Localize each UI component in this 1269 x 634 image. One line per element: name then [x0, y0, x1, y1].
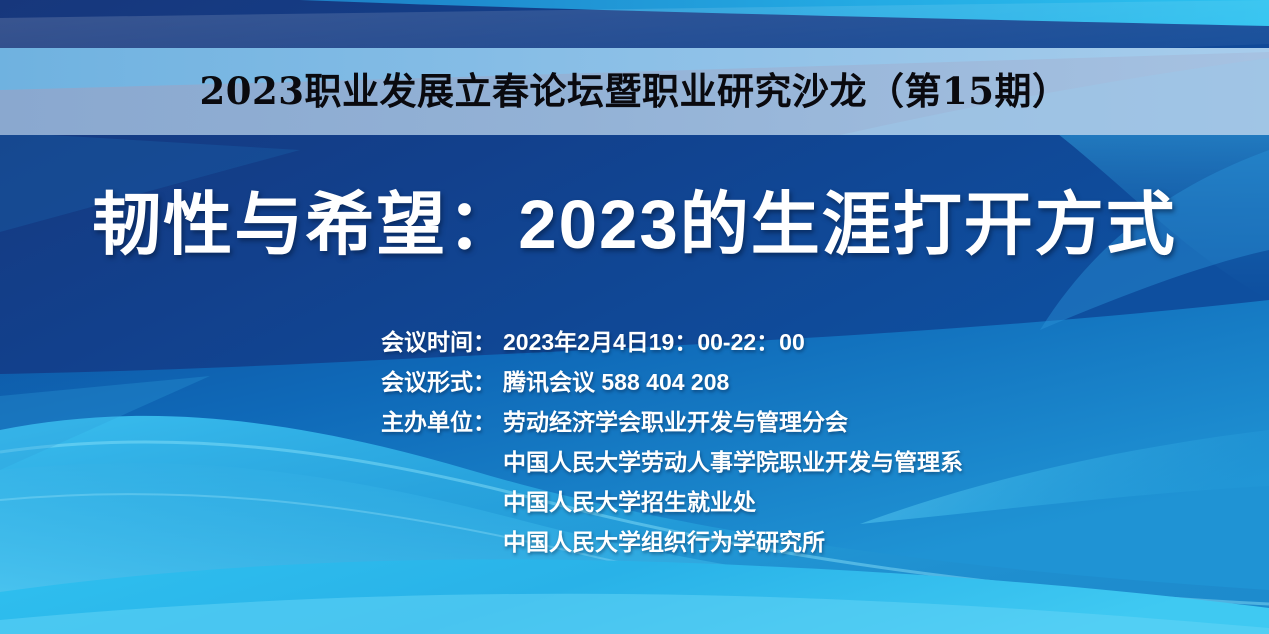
- page-title: 韧性与希望：2023的生涯打开方式: [0, 186, 1269, 263]
- detail-row-organizer-1: 主办单位： 劳动经济学会职业开发与管理分会: [381, 402, 1141, 442]
- detail-value-organizer-3: 中国人民大学招生就业处: [503, 482, 1141, 522]
- detail-value-organizer-2: 中国人民大学劳动人事学院职业开发与管理系: [503, 442, 1141, 482]
- header-banner-title: 2023职业发展立春论坛暨职业研究沙龙（第15期）: [0, 48, 1269, 135]
- details-block: 会议时间： 2023年2月4日19：00-22：00 会议形式： 腾讯会议 58…: [381, 322, 1141, 562]
- detail-row-meeting-format: 会议形式： 腾讯会议 588 404 208: [381, 362, 1141, 402]
- detail-value-organizer-4: 中国人民大学组织行为学研究所: [503, 522, 1141, 562]
- conference-poster: 2023职业发展立春论坛暨职业研究沙龙（第15期） 韧性与希望：2023的生涯打…: [0, 0, 1269, 634]
- detail-row-organizer-3: 主办单位： 中国人民大学招生就业处: [381, 482, 1141, 522]
- detail-value-meeting-time: 2023年2月4日19：00-22：00: [503, 322, 1141, 362]
- detail-row-meeting-time: 会议时间： 2023年2月4日19：00-22：00: [381, 322, 1141, 362]
- detail-value-organizer-1: 劳动经济学会职业开发与管理分会: [503, 402, 1141, 442]
- detail-label-meeting-format: 会议形式：: [381, 362, 503, 402]
- detail-row-organizer-4: 主办单位： 中国人民大学组织行为学研究所: [381, 522, 1141, 562]
- detail-label-meeting-time: 会议时间：: [381, 322, 503, 362]
- detail-label-organizer: 主办单位：: [381, 402, 503, 442]
- detail-row-organizer-2: 主办单位： 中国人民大学劳动人事学院职业开发与管理系: [381, 442, 1141, 482]
- detail-value-meeting-format: 腾讯会议 588 404 208: [503, 362, 1141, 402]
- header-banner: 2023职业发展立春论坛暨职业研究沙龙（第15期）: [0, 48, 1269, 135]
